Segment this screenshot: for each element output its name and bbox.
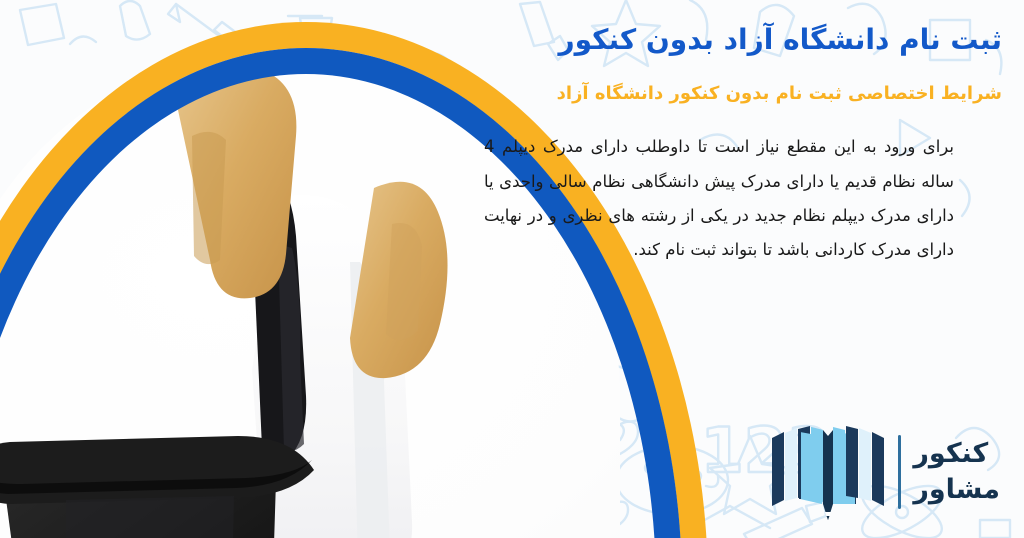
body-paragraph: برای ورود به این مقطع نیاز است تا داوطلب… xyxy=(484,130,954,267)
logo-word-moshaver: مشاور xyxy=(913,476,1000,504)
text-content: ثبت نام دانشگاه آزاد بدون کنکور شرایط اخ… xyxy=(484,0,1024,268)
banner-root: 123 xyxy=(0,0,1024,538)
ruler-icon xyxy=(690,506,770,528)
logo-divider xyxy=(898,435,901,509)
logo-word-konkoor: کنکور xyxy=(913,440,988,468)
paint-palette-icon xyxy=(616,446,728,514)
brand-logo[interactable]: کنکور مشاور xyxy=(770,420,1000,524)
page-title: ثبت نام دانشگاه آزاد بدون کنکور xyxy=(484,20,1002,59)
logo-wordmark: کنکور مشاور xyxy=(913,440,1000,505)
page-subtitle: شرایط اختصاصی ثبت نام بدون کنکور دانشگاه… xyxy=(484,81,1002,106)
open-book-pencil-icon xyxy=(770,420,886,524)
